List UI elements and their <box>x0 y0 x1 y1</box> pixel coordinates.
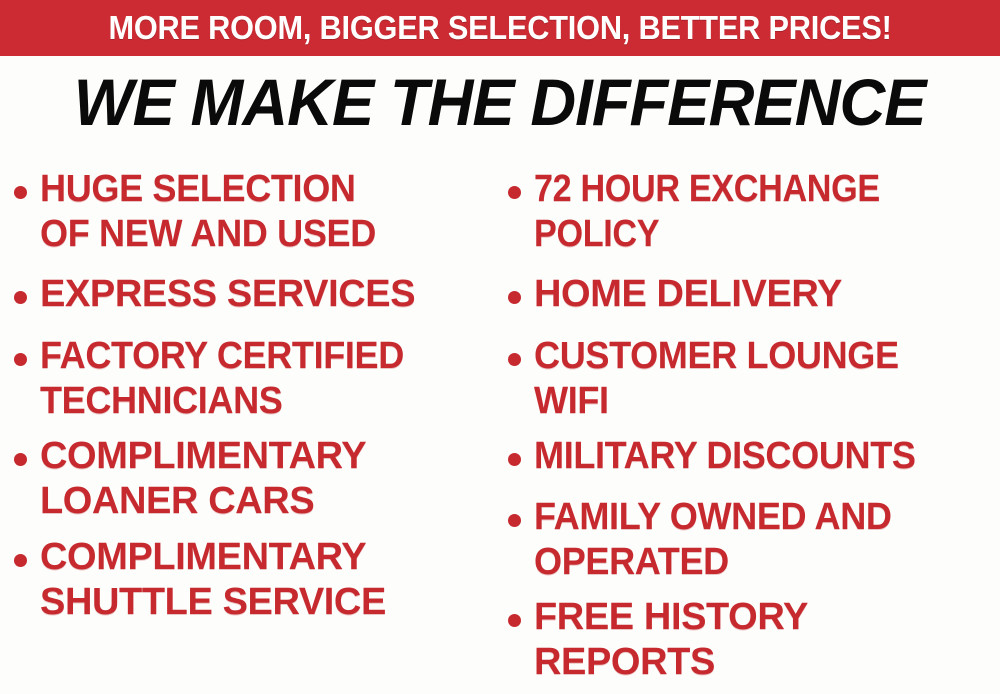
bullet-dot-icon <box>508 614 521 627</box>
benefits-column-left: HUGE SELECTION OF NEW AND USED EXPRESS S… <box>14 155 500 694</box>
list-item: FAMILY OWNED AND OPERATED <box>508 495 910 585</box>
list-item-label: CUSTOMER LOUNGE WIFI <box>534 334 899 424</box>
page-title-text: WE MAKE THE DIFFERENCE <box>74 66 926 138</box>
page-title: WE MAKE THE DIFFERENCE <box>0 66 1000 138</box>
list-item: FREE HISTORY REPORTS <box>508 595 808 685</box>
list-item: HUGE SELECTION OF NEW AND USED <box>14 167 394 257</box>
promo-poster: MORE ROOM, BIGGER SELECTION, BETTER PRIC… <box>0 0 1000 694</box>
bullet-dot-icon <box>14 291 27 304</box>
list-item-label: 72 HOUR EXCHANGE POLICY <box>534 167 880 257</box>
list-item-label: FACTORY CERTIFIED TECHNICIANS <box>40 334 404 424</box>
bullet-dot-icon <box>508 353 521 366</box>
list-item-label: HOME DELIVERY <box>534 272 842 317</box>
list-item: MILITARY DISCOUNTS <box>508 434 936 479</box>
list-item-label: MILITARY DISCOUNTS <box>534 434 916 479</box>
bullet-dot-icon <box>508 291 521 304</box>
bullet-dot-icon <box>14 353 27 366</box>
bullet-dot-icon <box>14 186 27 199</box>
list-item: EXPRESS SERVICES <box>14 272 415 317</box>
list-item: 72 HOUR EXCHANGE POLICY <box>508 167 918 257</box>
benefits-column-right: 72 HOUR EXCHANGE POLICY HOME DELIVERY CU… <box>508 155 1000 694</box>
list-item-label: HUGE SELECTION OF NEW AND USED <box>40 167 376 257</box>
list-item: COMPLIMENTARY SHUTTLE SERVICE <box>14 535 386 625</box>
list-item: FACTORY CERTIFIED TECHNICIANS <box>14 334 423 424</box>
benefits-columns: HUGE SELECTION OF NEW AND USED EXPRESS S… <box>0 155 1000 694</box>
bullet-dot-icon <box>14 453 27 466</box>
bullet-dot-icon <box>508 186 521 199</box>
bullet-dot-icon <box>508 514 521 527</box>
list-item-label: COMPLIMENTARY SHUTTLE SERVICE <box>40 535 386 625</box>
list-item: CUSTOMER LOUNGE WIFI <box>508 334 918 424</box>
top-banner: MORE ROOM, BIGGER SELECTION, BETTER PRIC… <box>0 0 1000 56</box>
banner-headline: MORE ROOM, BIGGER SELECTION, BETTER PRIC… <box>108 11 891 45</box>
list-item: COMPLIMENTARY LOANER CARS <box>14 434 366 524</box>
list-item: HOME DELIVERY <box>508 272 842 317</box>
list-item-label: EXPRESS SERVICES <box>40 272 415 317</box>
bullet-dot-icon <box>508 453 521 466</box>
list-item-label: COMPLIMENTARY LOANER CARS <box>40 434 366 524</box>
list-item-label: FREE HISTORY REPORTS <box>534 595 808 685</box>
bullet-dot-icon <box>14 554 27 567</box>
list-item-label: FAMILY OWNED AND OPERATED <box>534 495 892 585</box>
